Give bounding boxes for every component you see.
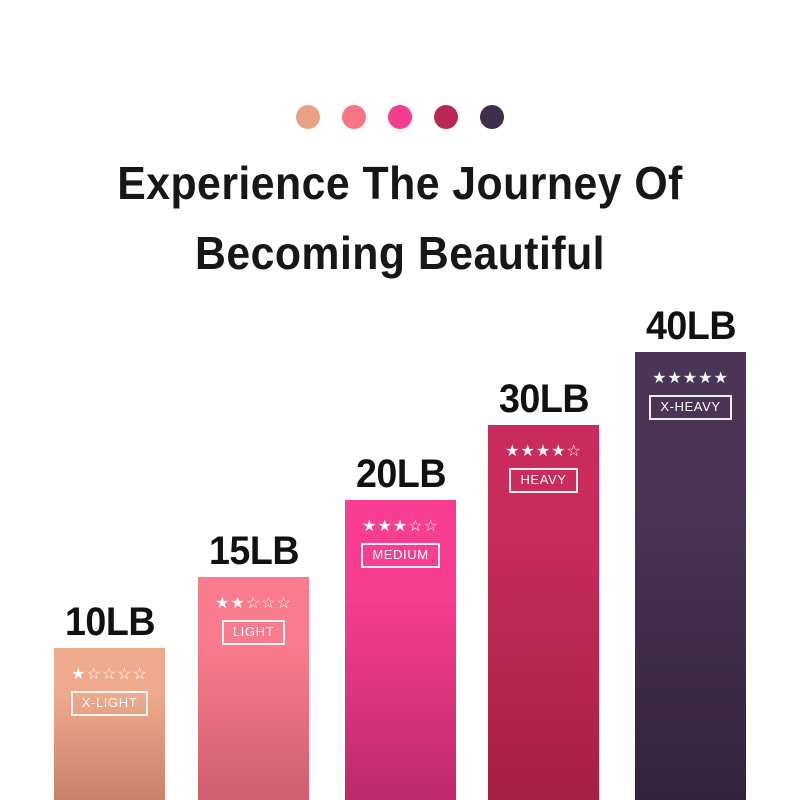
bar-value-label: 20LB bbox=[355, 454, 445, 494]
level-badge: MEDIUM bbox=[361, 543, 439, 568]
level-badge: LIGHT bbox=[222, 620, 285, 645]
bar-value-label: 15LB bbox=[208, 531, 298, 571]
level-badge: HEAVY bbox=[509, 468, 577, 493]
bar-group-light[interactable]: 15LB★★☆☆☆LIGHT bbox=[198, 577, 309, 800]
resistance-band-bar-chart: 10LB★☆☆☆☆X-LIGHT15LB★★☆☆☆LIGHT20LB★★★☆☆M… bbox=[0, 0, 800, 800]
product-infographic-poster: Experience The Journey Of Becoming Beaut… bbox=[0, 0, 800, 800]
star-rating-icon: ★★★☆☆ bbox=[345, 518, 456, 536]
star-rating-icon: ★☆☆☆☆ bbox=[54, 666, 165, 684]
bar-group-x-light[interactable]: 10LB★☆☆☆☆X-LIGHT bbox=[54, 648, 165, 800]
level-badge: X-LIGHT bbox=[71, 691, 148, 716]
bar-meta: ★★☆☆☆LIGHT bbox=[198, 595, 309, 645]
star-rating-icon: ★★☆☆☆ bbox=[198, 595, 309, 613]
bar-group-x-heavy[interactable]: 40LB★★★★★X-HEAVY bbox=[635, 352, 746, 800]
star-rating-icon: ★★★★☆ bbox=[488, 443, 599, 461]
bar-meta: ★★★★★X-HEAVY bbox=[635, 370, 746, 420]
bar: ★★★★☆HEAVY bbox=[488, 425, 599, 800]
bar-group-heavy[interactable]: 30LB★★★★☆HEAVY bbox=[488, 425, 599, 800]
bar: ★★★★★X-HEAVY bbox=[635, 352, 746, 800]
bar: ★★★☆☆MEDIUM bbox=[345, 500, 456, 800]
bar-value-label: 40LB bbox=[645, 306, 735, 346]
bar-meta: ★☆☆☆☆X-LIGHT bbox=[54, 666, 165, 716]
bar-meta: ★★★☆☆MEDIUM bbox=[345, 518, 456, 568]
star-rating-icon: ★★★★★ bbox=[635, 370, 746, 388]
bar: ★★☆☆☆LIGHT bbox=[198, 577, 309, 800]
bar: ★☆☆☆☆X-LIGHT bbox=[54, 648, 165, 800]
bar-value-label: 10LB bbox=[64, 602, 154, 642]
bar-value-label: 30LB bbox=[498, 379, 588, 419]
bar-meta: ★★★★☆HEAVY bbox=[488, 443, 599, 493]
bar-group-medium[interactable]: 20LB★★★☆☆MEDIUM bbox=[345, 500, 456, 800]
level-badge: X-HEAVY bbox=[649, 395, 731, 420]
